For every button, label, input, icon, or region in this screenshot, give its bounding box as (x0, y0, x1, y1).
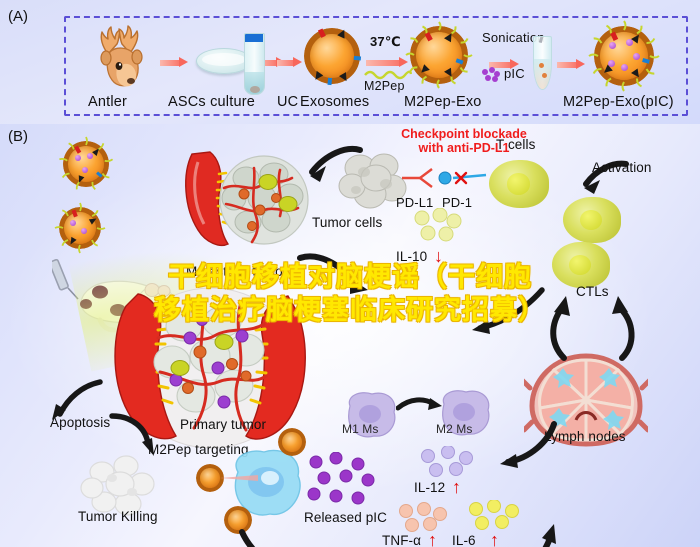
released-pic-label: Released pIC (304, 510, 387, 525)
il10-down-arrow: ↓ (434, 246, 443, 267)
m2-macrophage-label: M2 Ms (436, 422, 473, 436)
tnfa-label: TNF-α (382, 533, 421, 547)
panel-b-letter: (B) (8, 128, 28, 145)
sonicator-tube-icon (533, 36, 552, 90)
exosome-targeting-icon (282, 432, 302, 452)
arrow-m1-to-m2 (396, 392, 444, 418)
il12-up-arrow: ↑ (452, 477, 461, 498)
arrow-uc-to-exosomes (277, 58, 302, 67)
t-cell-icon (489, 160, 549, 208)
arrow-ctl-to-tumor-killing (472, 282, 548, 344)
deer-icon (84, 24, 156, 90)
panel-a-letter: (A) (8, 8, 28, 25)
t-cells-label: T cells (496, 137, 535, 152)
primary-tumor-label: Primary tumor (180, 417, 266, 432)
arrow-metastatic-to-tumorcells (296, 142, 366, 196)
exosome-peptide-icon (416, 32, 462, 78)
exosome-icon (310, 34, 354, 78)
exosome-pic-icon (600, 32, 648, 80)
stage-label-asc-culture: ASCs culture (168, 94, 255, 110)
arrow-mature-dc-to-lymphnodes (498, 522, 566, 547)
tnfa-up-arrow: ↑ (428, 530, 437, 547)
stage-label-m2pep-exo-pic: M2Pep-Exo(pIC) (563, 94, 674, 110)
ctl-cell-icon (563, 197, 621, 243)
released-pic-dots (306, 452, 386, 510)
m2pep-annotation: M2Pep (364, 79, 405, 93)
tumor-killing-label: Tumor Killing (78, 509, 158, 524)
activation-label: Activation (592, 160, 652, 175)
pic-annotation: pIC (504, 66, 525, 81)
pic-cluster-icon (481, 67, 501, 83)
metastatic-tumor-icon (176, 148, 316, 260)
stage-label-m2pep-exo: M2Pep-Exo (404, 94, 482, 110)
tnfa-cytokine-dots (396, 502, 450, 534)
arrow-antler-to-culture (160, 58, 188, 67)
il10-cytokine-dots (412, 208, 466, 244)
tumor-cells-label: Tumor cells (312, 215, 382, 230)
arrow-cytokines-to-lymphnodes (498, 418, 562, 472)
exosome-particle-icon (64, 212, 96, 244)
centrifuge-tube-icon (244, 33, 265, 95)
arrow-sonication-to-final (557, 60, 585, 69)
scientific-figure: (A) (0, 0, 700, 547)
m1-macrophage-label: M1 Ms (342, 422, 379, 436)
temperature-annotation: 37℃ (370, 34, 401, 50)
arrow-lymphnodes-to-ctls-right (592, 294, 646, 364)
panel-a: (A) (0, 0, 700, 124)
il6-label: IL-6 (452, 533, 476, 547)
panel-b: Metastatic tumor Checkpoint blockade wit… (0, 124, 700, 547)
targeting-beam (218, 472, 262, 484)
exosome-targeting-icon (200, 468, 220, 488)
il10-label: IL-10 (396, 249, 427, 264)
il12-label: IL-12 (414, 480, 445, 495)
il12-cytokine-dots (418, 446, 478, 480)
arrow-tumor-to-immature-dc (238, 526, 324, 547)
exosome-particle-icon (68, 146, 104, 182)
stage-label-uc: UC (277, 94, 298, 110)
stage-label-antler: Antler (88, 94, 127, 110)
arrow-primary-to-apoptosis (48, 376, 106, 424)
stage-label-exosomes: Exosomes (300, 94, 369, 110)
ctl-cell-icon (552, 242, 610, 288)
arrow-tumor-to-macrophage (296, 248, 380, 304)
